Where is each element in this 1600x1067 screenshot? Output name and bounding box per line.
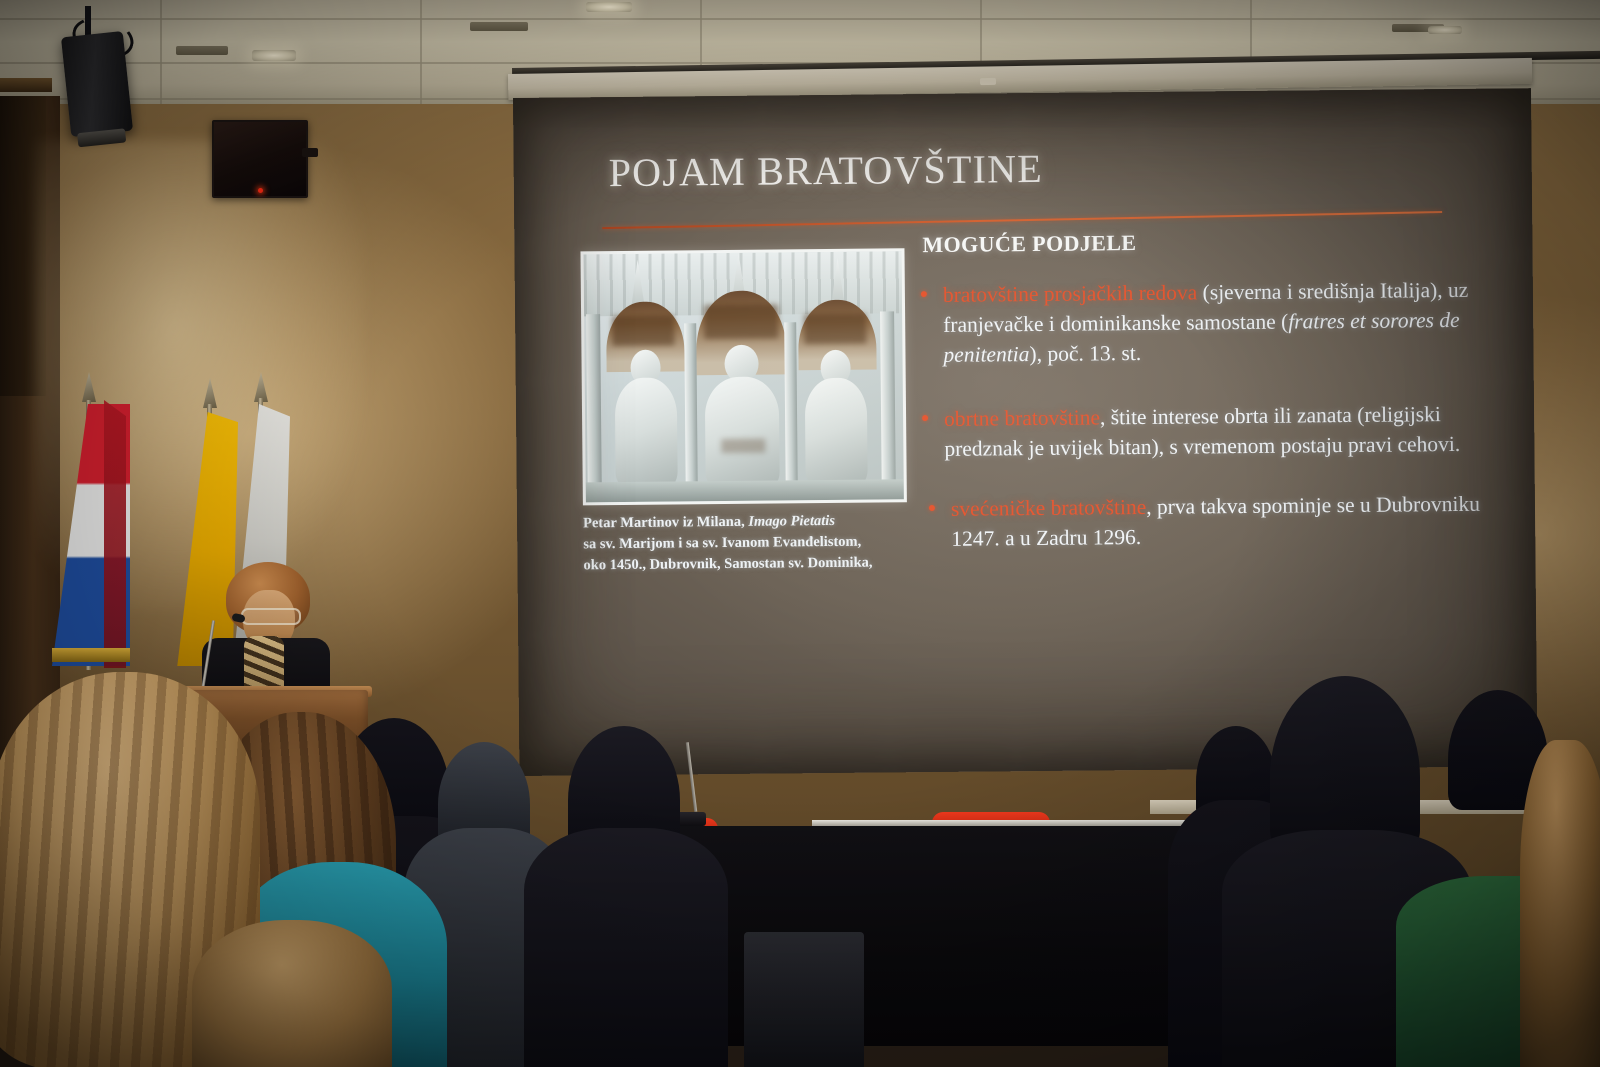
room-background: POJAM BRATOVŠTINE bbox=[0, 0, 1600, 1067]
bullet-item: svećeničke bratovštine, prva takva spomi… bbox=[915, 488, 1516, 554]
caption-line-2: sa sv. Marijom i sa sv. Ivanom Evanđelis… bbox=[583, 534, 861, 553]
bullet-dot-icon bbox=[929, 505, 935, 511]
ceiling-projector bbox=[61, 31, 133, 137]
bullet-text-b: ), poč. 13. st. bbox=[1029, 341, 1141, 366]
audience-shoulders bbox=[524, 828, 728, 1067]
recessed-light bbox=[252, 50, 296, 61]
seat-back bbox=[744, 932, 864, 1067]
caption-line-1-italic: Imago Pietatis bbox=[748, 513, 835, 530]
bullet-highlight: svećeničke bratovštine bbox=[951, 495, 1146, 521]
ceiling-vent bbox=[176, 46, 228, 55]
figure-caption: Petar Martinov iz Milana, Imago Pietatis… bbox=[583, 510, 924, 576]
monitor-arm bbox=[302, 148, 318, 157]
recessed-light bbox=[1428, 26, 1462, 34]
audience-head-blonde-lower bbox=[192, 920, 392, 1067]
caption-line-3: oko 1450., Dubrovnik, Samostan sv. Domin… bbox=[583, 555, 872, 574]
presenter bbox=[196, 562, 336, 697]
wall-monitor bbox=[212, 120, 308, 198]
screen-pull-knob[interactable] bbox=[980, 78, 996, 85]
caption-line-1-pre: Petar Martinov iz Milana, bbox=[583, 514, 748, 532]
wall-trim bbox=[0, 78, 52, 92]
audience-shoulders bbox=[1520, 740, 1600, 1067]
title-underline-rule bbox=[602, 211, 1442, 229]
projected-slide: POJAM BRATOVŠTINE bbox=[513, 88, 1537, 776]
recessed-light bbox=[586, 2, 632, 12]
ceiling-vent bbox=[470, 22, 528, 31]
slide-subheading: MOGUĆE PODJELE bbox=[922, 230, 1136, 258]
imago-pietatis-relief bbox=[580, 248, 906, 505]
bullet-item: bratovštine prosjačkih redova (sjeverna … bbox=[913, 274, 1514, 370]
glasses-icon bbox=[241, 608, 301, 625]
bullet-item: obrtne bratovštine, štite interese obrta… bbox=[914, 398, 1515, 464]
bullet-dot-icon bbox=[922, 415, 928, 421]
bullet-highlight: bratovštine prosjačkih redova bbox=[943, 280, 1198, 306]
slide-bullet-list: bratovštine prosjačkih redova (sjeverna … bbox=[913, 274, 1516, 576]
slide-title: POJAM BRATOVŠTINE bbox=[608, 145, 1043, 196]
power-led-icon bbox=[258, 188, 263, 193]
bullet-highlight: obrtne bratovštine bbox=[944, 405, 1100, 430]
lecture-hall-photo: POJAM BRATOVŠTINE bbox=[0, 0, 1600, 1067]
bullet-dot-icon bbox=[921, 291, 927, 297]
